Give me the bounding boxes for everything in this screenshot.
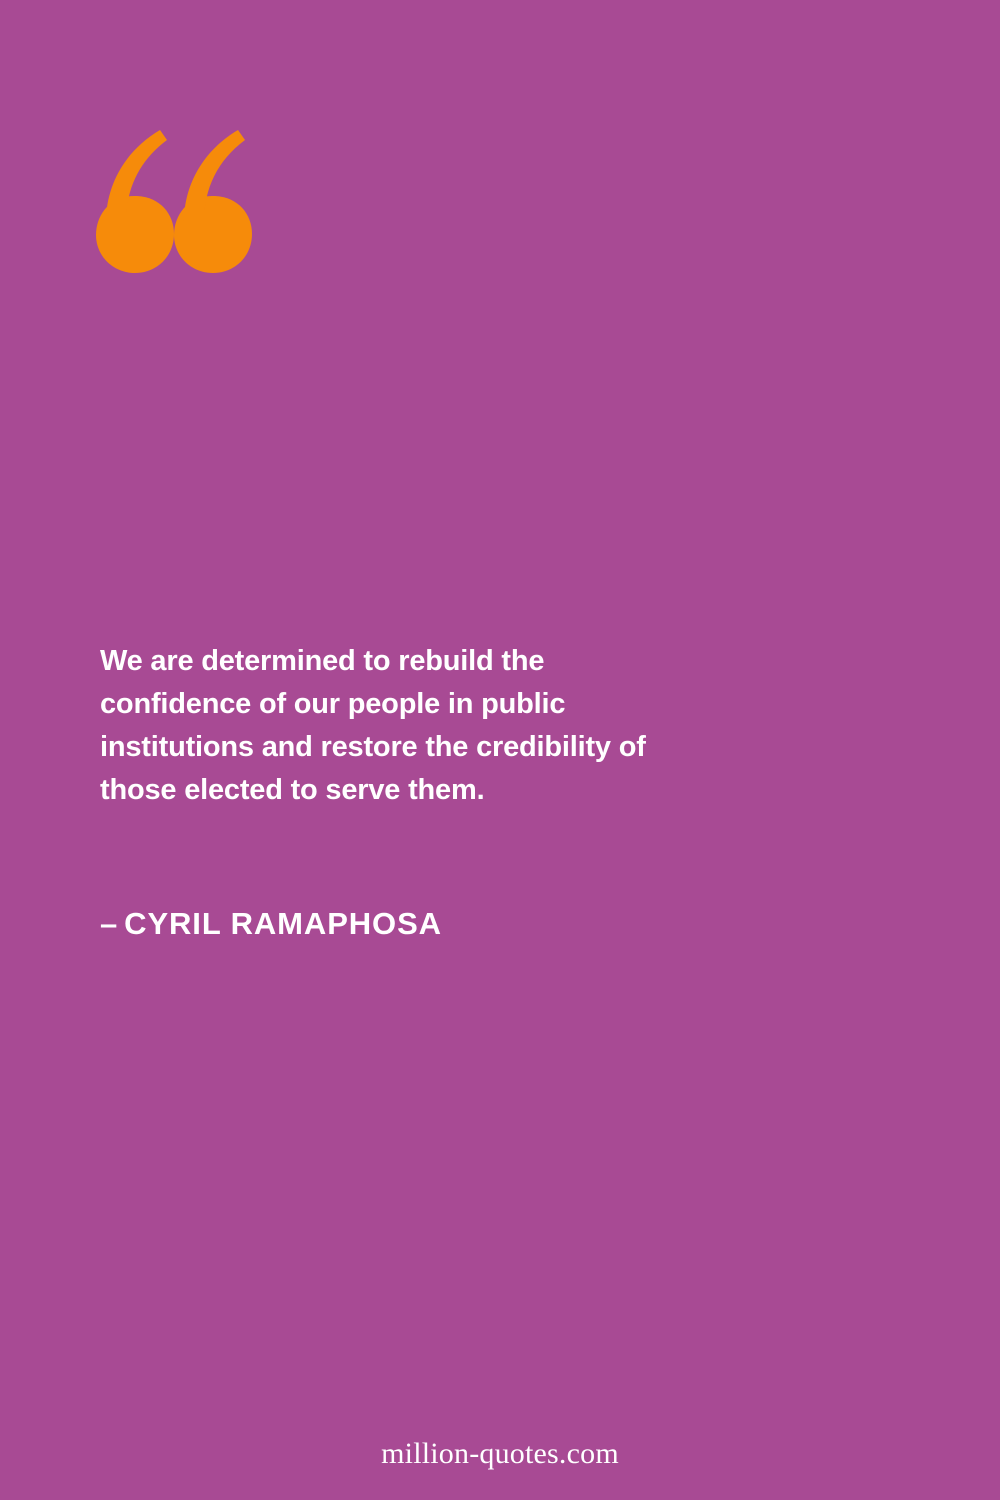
- attribution-author: CYRIL RAMAPHOSA: [124, 906, 442, 941]
- footer: million-quotes.com: [0, 1437, 1000, 1471]
- quote-line: We are determined to rebuild the: [100, 640, 760, 683]
- attribution-dash: –: [100, 906, 118, 942]
- quote-line: confidence of our people in public: [100, 683, 760, 726]
- source-site-label: million-quotes.com: [381, 1437, 619, 1470]
- double-opening-quote-icon: [94, 126, 254, 276]
- quote-line: those elected to serve them.: [100, 769, 760, 812]
- quote-card: We are determined to rebuild the confide…: [0, 0, 1000, 1500]
- quote-attribution: –CYRIL RAMAPHOSA: [100, 906, 442, 942]
- quote-text: We are determined to rebuild the confide…: [100, 640, 760, 812]
- quote-line: institutions and restore the credibility…: [100, 726, 760, 769]
